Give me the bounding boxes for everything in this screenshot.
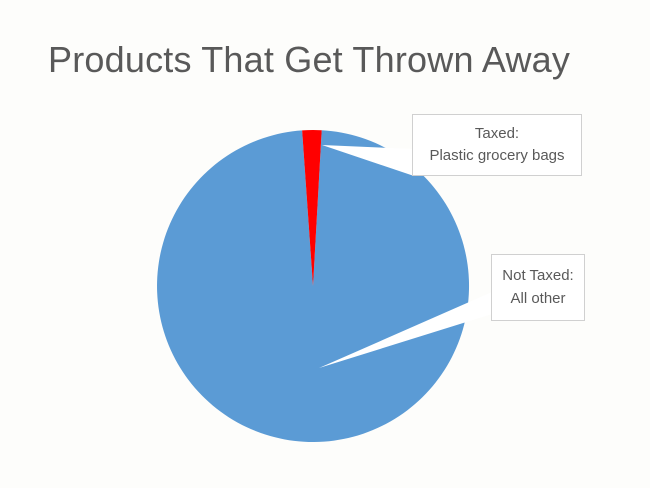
pie-graphic — [0, 0, 650, 488]
taxed-callout-line2: Plastic grocery bags — [429, 145, 564, 168]
pie-chart-container: Products That Get Thrown Away Taxed: Pla… — [0, 0, 650, 488]
not-taxed-callout-line1: Not Taxed: — [502, 265, 573, 288]
not-taxed-callout[interactable]: Not Taxed: All other — [491, 254, 585, 321]
not-taxed-callout-line2: All other — [510, 288, 565, 311]
taxed-callout[interactable]: Taxed: Plastic grocery bags — [412, 114, 582, 176]
taxed-callout-line1: Taxed: — [475, 123, 519, 146]
